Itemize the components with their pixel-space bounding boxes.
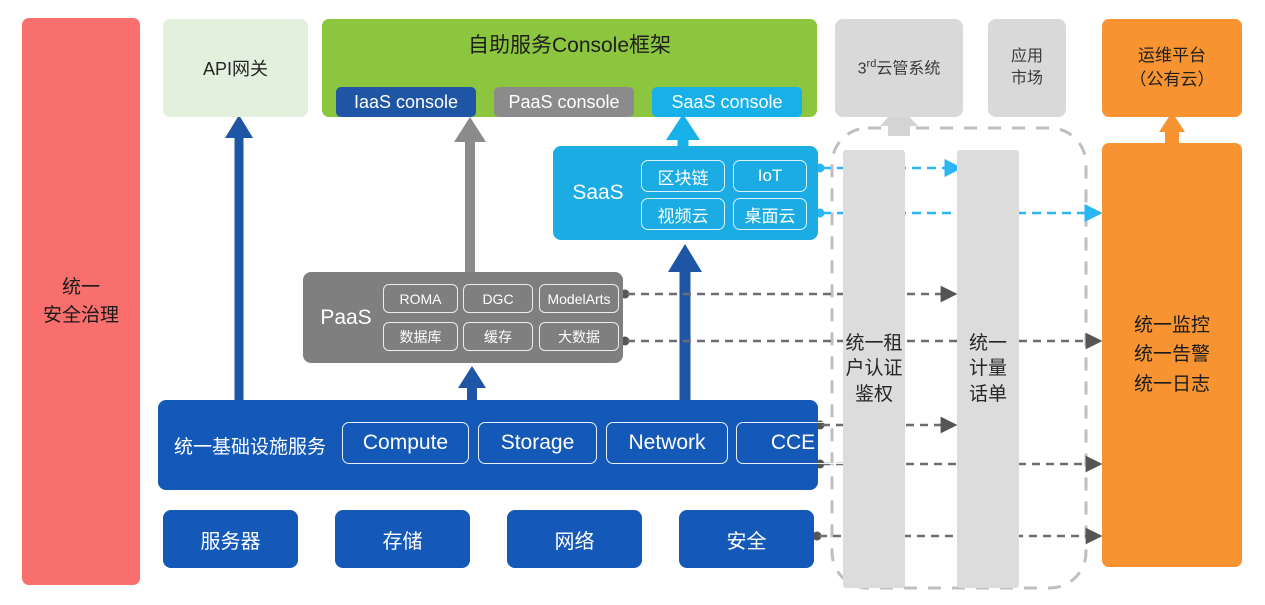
infra-chip-compute[interactable]: Compute [342,422,469,464]
hardware-box-security[interactable]: 安全 [679,510,814,568]
paas-chip-bigdata[interactable]: 大数据 [539,322,619,351]
tenant-auth-label: 统一租户认证鉴权 [845,331,902,408]
ops-platform-body-label: 统一监控统一告警统一日志 [1134,311,1210,399]
infrastructure-label: 统一基础设施服务 [174,400,326,490]
paas-chip-database[interactable]: 数据库 [383,322,458,351]
third-party-cloud-box[interactable]: 3rd云管系统 [835,19,963,117]
hardware-box-server[interactable]: 服务器 [163,510,298,568]
saas-console-chip[interactable]: SaaS console [652,87,802,117]
hardware-box-storage[interactable]: 存储 [335,510,470,568]
paas-label: PaaS [311,272,381,363]
arrow-infra-to-paas [458,366,486,400]
third-party-superscript: rd [867,58,877,70]
ops-platform-header-box[interactable]: 运维平台（公有云） [1102,19,1242,117]
api-gateway-label: API网关 [203,55,268,81]
paas-chip-modelarts[interactable]: ModelArts [539,284,619,313]
unified-security-governance[interactable]: 统一安全治理 [22,18,140,585]
ops-platform-header-label: 运维平台（公有云） [1130,44,1215,92]
ops-platform-body-box[interactable]: 统一监控统一告警统一日志 [1102,143,1242,567]
paas-console-chip[interactable]: PaaS console [494,87,634,117]
saas-chip-blockchain[interactable]: 区块链 [641,160,725,192]
arrow-infra-to-apigw [225,115,253,400]
infra-chip-cce[interactable]: CCE [736,422,850,464]
unified-tenant-auth-column[interactable]: 统一租户认证鉴权 [843,150,905,588]
app-market-label: 应用市场 [1011,46,1043,89]
saas-chip-desktop-cloud[interactable]: 桌面云 [733,198,807,230]
api-gateway-box[interactable]: API网关 [163,19,308,117]
app-market-box[interactable]: 应用市场 [988,19,1066,117]
console-framework-title: 自助服务Console框架 [322,29,817,59]
governance-label: 统一安全治理 [43,274,119,329]
saas-chip-iot[interactable]: IoT [733,160,807,192]
saas-label: SaaS [563,146,633,240]
saas-panel[interactable]: SaaS 区块链 IoT 视频云 桌面云 [553,146,818,240]
hardware-box-network[interactable]: 网络 [507,510,642,568]
saas-chip-video-cloud[interactable]: 视频云 [641,198,725,230]
paas-panel[interactable]: PaaS ROMA DGC ModelArts 数据库 缓存 大数据 [303,272,623,363]
unified-metering-billing-column[interactable]: 统一计量话单 [957,150,1019,588]
metering-billing-label: 统一计量话单 [969,331,1007,408]
arrow-infra-to-saas [668,244,702,400]
unified-infrastructure-panel[interactable]: 统一基础设施服务 Compute Storage Network CCE [158,400,818,490]
infra-chip-storage[interactable]: Storage [478,422,597,464]
paas-chip-cache[interactable]: 缓存 [463,322,533,351]
infra-chip-network[interactable]: Network [606,422,728,464]
paas-chip-roma[interactable]: ROMA [383,284,458,313]
arrow-saas-to-saas-console [666,114,700,146]
arrow-paas-to-console [454,117,486,272]
console-framework-panel[interactable]: 自助服务Console框架 IaaS console PaaS console … [322,19,817,117]
paas-chip-dgc[interactable]: DGC [463,284,533,313]
third-party-label: 3rd云管系统 [858,57,941,80]
architecture-diagram: 统一安全治理 API网关 自助服务Console框架 IaaS console … [0,0,1265,605]
iaas-console-chip[interactable]: IaaS console [336,87,476,117]
